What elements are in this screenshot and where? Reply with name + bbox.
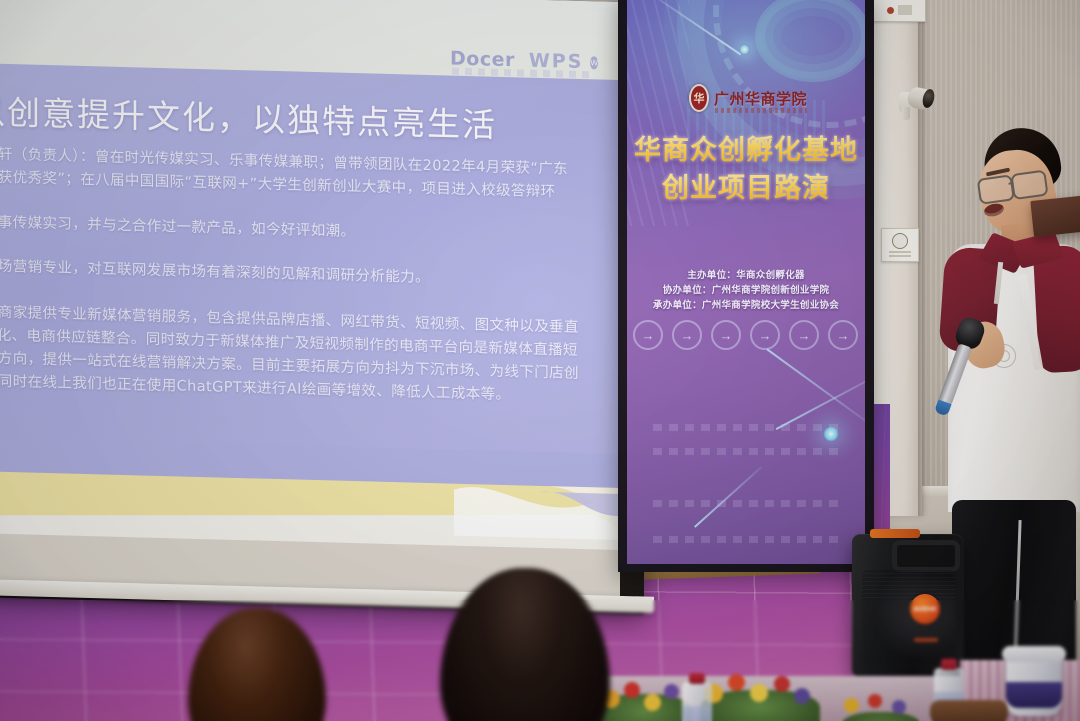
wps-badge-icon: W (590, 56, 598, 69)
banner-faint-text-row (653, 448, 843, 455)
banner-faint-text-row (653, 424, 843, 431)
arrow-right-icon: → (672, 320, 702, 350)
organizer-line: 主办单位：华商众创孵化器 (627, 268, 865, 283)
banner-title-line2: 创业项目路演 (627, 170, 865, 208)
projection-screen-frame: 介 Docer WPS W 以创意提升文化，以独特点亮生活 计嘉轩（负责人）：曾… (0, 0, 644, 615)
banner-network-line (776, 372, 865, 430)
flower-blossom (892, 700, 906, 714)
sign-dot-icon (887, 7, 894, 14)
flower-blossom (644, 694, 661, 711)
flower-blossom (664, 684, 679, 699)
lectern-edge (1030, 195, 1080, 237)
rollup-banner: 华 广州华商学院 华商众创孵化基地 创业项目路演 主办单位：华商众创孵化器 协办… (627, 0, 865, 564)
flower-blossom (868, 694, 882, 708)
banner-title-line1: 华商众创孵化基地 (627, 132, 865, 170)
banner-faint-text-row (653, 536, 843, 543)
slide-body: 以创意提升文化，以独特点亮生活 计嘉轩（负责人）：曾在时光传媒实习、乐事传媒兼职… (0, 63, 620, 470)
water-bottle (682, 682, 712, 721)
banner-network-line (767, 349, 865, 425)
organizer-line: 协办单位：广州华商学院创新创业学院 (627, 283, 865, 298)
arrow-right-icon: → (828, 320, 858, 350)
flower-bouquet (596, 676, 692, 721)
cup-lid (1002, 646, 1066, 662)
pa-speaker: AUDIO (852, 534, 964, 676)
school-seal-icon: 华 (689, 84, 709, 112)
slide-paragraph: 自市场营销专业，对互联网发展市场有着深刻的见解和调研分析能力。 (0, 255, 582, 294)
flower-bouquet (838, 694, 924, 721)
bouquet-foliage (838, 712, 924, 721)
wall-notice-sign-top (872, 0, 926, 22)
school-logo-subtext (715, 108, 807, 113)
security-camera-icon (899, 88, 935, 118)
snack-plate (930, 700, 1008, 721)
paper-cup (1006, 654, 1062, 716)
glasses-lens-left (977, 174, 1015, 205)
sign-line (889, 255, 911, 257)
banner-organizers: 主办单位：华商众创孵化器 协办单位：广州华商学院创新创业学院 承办单位：广州华商… (627, 268, 865, 313)
speaker-grill (862, 570, 956, 666)
glasses-lens-right (1010, 170, 1048, 201)
flower-blossom (774, 676, 790, 692)
banner-title: 华商众创孵化基地 创业项目路演 (627, 132, 865, 208)
school-logo-text: 广州华商学院 (714, 88, 807, 109)
banner-faint-text-row (653, 500, 843, 507)
slide-title: 以创意提升文化，以独特点亮生活 (0, 85, 497, 147)
presentation-photo: 介 Docer WPS W 以创意提升文化，以独特点亮生活 计嘉轩（负责人）：曾… (0, 0, 1080, 721)
speaker-brand-badge: AUDIO (910, 594, 940, 624)
arrow-right-icon: → (711, 320, 741, 350)
bottle-cap (689, 673, 705, 684)
organizer-line: 承办单位：广州华商学院校大学生创业协会 (627, 298, 865, 313)
wall-pillar-edge (918, 0, 925, 516)
flower-blossom (624, 682, 640, 698)
bottle-cap (941, 659, 957, 670)
flower-blossom (750, 684, 768, 702)
emblem-icon (892, 233, 908, 249)
speaker-top-tape (870, 529, 920, 538)
sign-line (889, 251, 911, 253)
flower-blossom (844, 698, 859, 713)
wall-notice-sign-bottom (881, 228, 919, 262)
slide-paragraph: 品牌商家提供专业新媒体营销服务，包含提供品牌店播、网红带货、短视频、图文种以及垂… (0, 301, 582, 409)
speaker-handle (892, 540, 960, 572)
flower-blossom (728, 674, 745, 691)
projection-screen: 介 Docer WPS W 以创意提升文化，以独特点亮生活 计嘉轩（负责人）：曾… (0, 0, 620, 602)
bottle-label (682, 706, 712, 721)
banner-light-node (739, 44, 750, 55)
flower-bouquet (700, 672, 820, 721)
arrow-right-icon: → (750, 320, 780, 350)
speaker-accent-strip (914, 638, 938, 642)
rollup-banner-frame: 华 广州华商学院 华商众创孵化基地 创业项目路演 主办单位：华商众创孵化器 协办… (618, 0, 874, 572)
slide: 介 Docer WPS W 以创意提升文化，以独特点亮生活 计嘉轩（负责人）：曾… (0, 0, 620, 602)
camera-stem (902, 107, 910, 120)
sign-chip-icon (898, 5, 912, 15)
flower-blossom (794, 688, 810, 704)
arrow-right-icon: → (633, 320, 663, 350)
banner-arrow-row: → → → → → → (633, 322, 865, 348)
cup-band (1006, 682, 1062, 708)
banner-network-line (694, 466, 762, 527)
arrow-right-icon: → (789, 320, 819, 350)
